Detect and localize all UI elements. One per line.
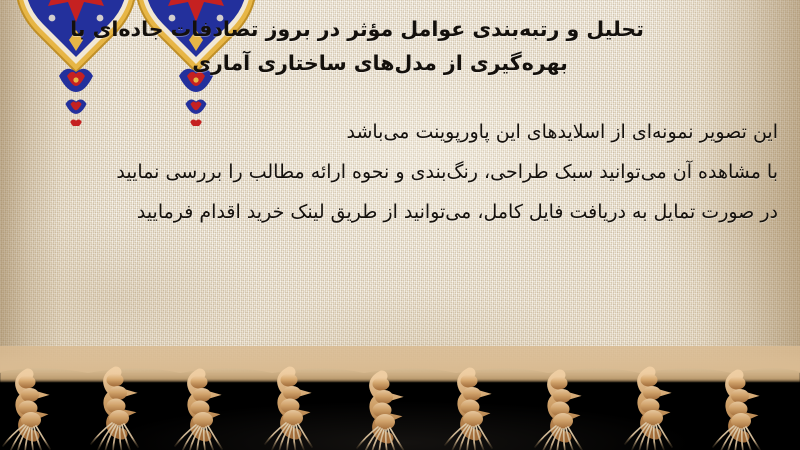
carpet-fringe-icon bbox=[0, 346, 800, 450]
title-line-1: تحلیل و رتبه‌بندی عوامل مؤثر در بروز تصا… bbox=[0, 12, 800, 46]
slide-title: تحلیل و رتبه‌بندی عوامل مؤثر در بروز تصا… bbox=[0, 12, 800, 80]
slide-body: این تصویر نمونه‌ای از اسلایدهای این پاور… bbox=[18, 112, 778, 232]
body-line-3: در صورت تمایل به دریافت فایل کامل، می‌تو… bbox=[18, 192, 778, 232]
body-line-1: این تصویر نمونه‌ای از اسلایدهای این پاور… bbox=[18, 112, 778, 152]
slide-canvas: تحلیل و رتبه‌بندی عوامل مؤثر در بروز تصا… bbox=[0, 0, 800, 450]
title-line-2: بهره‌گیری از مدل‌های ساختاری آماری bbox=[0, 46, 800, 80]
body-line-2: با مشاهده آن می‌توانید سبک طراحی، رنگ‌بن… bbox=[18, 152, 778, 192]
